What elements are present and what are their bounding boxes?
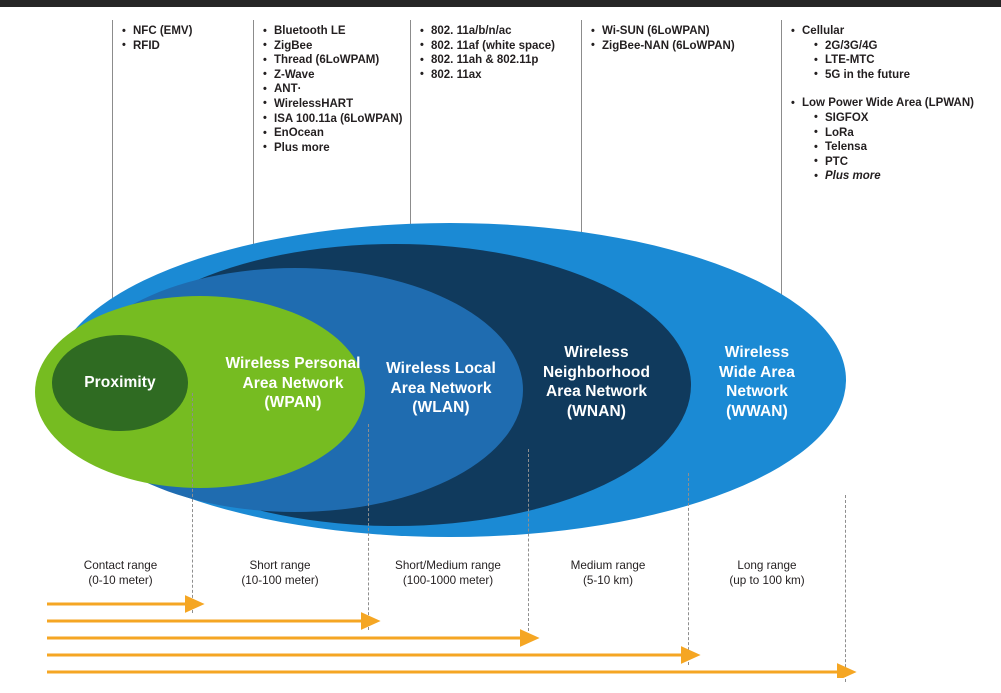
list-item: ISA 100.11a (6LoWPAN)	[262, 112, 402, 127]
list-item: LoRa	[790, 126, 974, 141]
list-item: Plus more	[262, 141, 402, 156]
range-label-contact-range: Contact range (0-10 meter)	[49, 558, 192, 588]
list-item: Cellular	[790, 24, 974, 39]
list-item: Plus more	[790, 169, 974, 184]
list-item: ZigBee-NAN (6LoWPAN)	[590, 39, 735, 54]
range-label-long-range: Long range (up to 100 km)	[690, 558, 844, 588]
callout-column-wpan: Bluetooth LE ZigBee Thread (6LoWPAM) Z-W…	[262, 24, 402, 155]
list-item: NFC (EMV)	[121, 24, 192, 39]
zone-label-proximity: Proximity	[55, 373, 185, 393]
range-arrow-group	[0, 588, 1001, 678]
list-item: 2G/3G/4G	[790, 39, 974, 54]
zone-label-line: Area Network	[200, 374, 386, 394]
zone-label-line: Wireless	[528, 343, 665, 363]
list-item: Wi-SUN (6LoWPAN)	[590, 24, 735, 39]
zone-label-line: Proximity	[55, 373, 185, 393]
zone-label-line: Wireless Personal	[200, 354, 386, 374]
range-title: Short/Medium range	[370, 558, 526, 573]
list-item: Thread (6LoWPAM)	[262, 53, 402, 68]
top-bar	[0, 0, 1001, 7]
list-item: ANT·	[262, 82, 402, 97]
zone-label-line: Wireless Local	[365, 359, 517, 379]
list-item: 802. 11a/b/n/ac	[419, 24, 555, 39]
list-item: 5G in the future	[790, 68, 974, 83]
zone-label-line: Area Network	[365, 379, 517, 399]
callout-column-wnan: Wi-SUN (6LoWPAN) ZigBee-NAN (6LoWPAN)	[590, 24, 735, 53]
list-item: 802. 11ah & 802.11p	[419, 53, 555, 68]
zone-label-wnan: Wireless Neighborhood Area Network (WNAN…	[528, 343, 665, 421]
range-detail: (10-100 meter)	[194, 573, 366, 588]
list-item: LTE-MTC	[790, 53, 974, 68]
list-item: WirelessHART	[262, 97, 402, 112]
zone-label-line: (WPAN)	[200, 393, 386, 413]
list-item: RFID	[121, 39, 192, 54]
zone-label-line: Wireless	[700, 343, 814, 363]
zone-label-line: Network	[700, 382, 814, 402]
range-detail: (5-10 km)	[530, 573, 686, 588]
list-item: Telensa	[790, 140, 974, 155]
range-label-short-medium-range: Short/Medium range (100-1000 meter)	[370, 558, 526, 588]
range-detail: (100-1000 meter)	[370, 573, 526, 588]
zone-label-line: (WLAN)	[365, 398, 517, 418]
list-item: 802. 11ax	[419, 68, 555, 83]
zone-label-line: (WWAN)	[700, 402, 814, 422]
list-item: Low Power Wide Area (LPWAN)	[790, 96, 974, 111]
zone-label-wpan: Wireless Personal Area Network (WPAN)	[200, 354, 386, 413]
callout-column-wwan: Cellular 2G/3G/4G LTE-MTC 5G in the futu…	[790, 24, 974, 184]
list-item: 802. 11af (white space)	[419, 39, 555, 54]
range-label-short-range: Short range (10-100 meter)	[194, 558, 366, 588]
zone-label-line: Neighborhood	[528, 363, 665, 383]
list-item: SIGFOX	[790, 111, 974, 126]
list-item: PTC	[790, 155, 974, 170]
range-title: Contact range	[49, 558, 192, 573]
callout-column-wlan: 802. 11a/b/n/ac 802. 11af (white space) …	[419, 24, 555, 82]
range-title: Medium range	[530, 558, 686, 573]
range-detail: (up to 100 km)	[690, 573, 844, 588]
range-title: Long range	[690, 558, 844, 573]
range-title: Short range	[194, 558, 366, 573]
zone-label-wlan: Wireless Local Area Network (WLAN)	[365, 359, 517, 418]
list-item: Z-Wave	[262, 68, 402, 83]
list-item: EnOcean	[262, 126, 402, 141]
range-label-medium-range: Medium range (5-10 km)	[530, 558, 686, 588]
zone-label-line: Wide Area	[700, 363, 814, 383]
zone-label-wwan: Wireless Wide Area Network (WWAN)	[700, 343, 814, 421]
wireless-network-range-diagram: NFC (EMV) RFID Bluetooth LE ZigBee Threa…	[0, 0, 1001, 693]
callout-column-proximity: NFC (EMV) RFID	[121, 24, 192, 53]
range-divider-1	[192, 393, 193, 613]
zone-label-line: (WNAN)	[528, 402, 665, 422]
zone-label-line: Area Network	[528, 382, 665, 402]
range-detail: (0-10 meter)	[49, 573, 192, 588]
list-item: ZigBee	[262, 39, 402, 54]
list-spacer	[790, 82, 974, 96]
list-item: Bluetooth LE	[262, 24, 402, 39]
